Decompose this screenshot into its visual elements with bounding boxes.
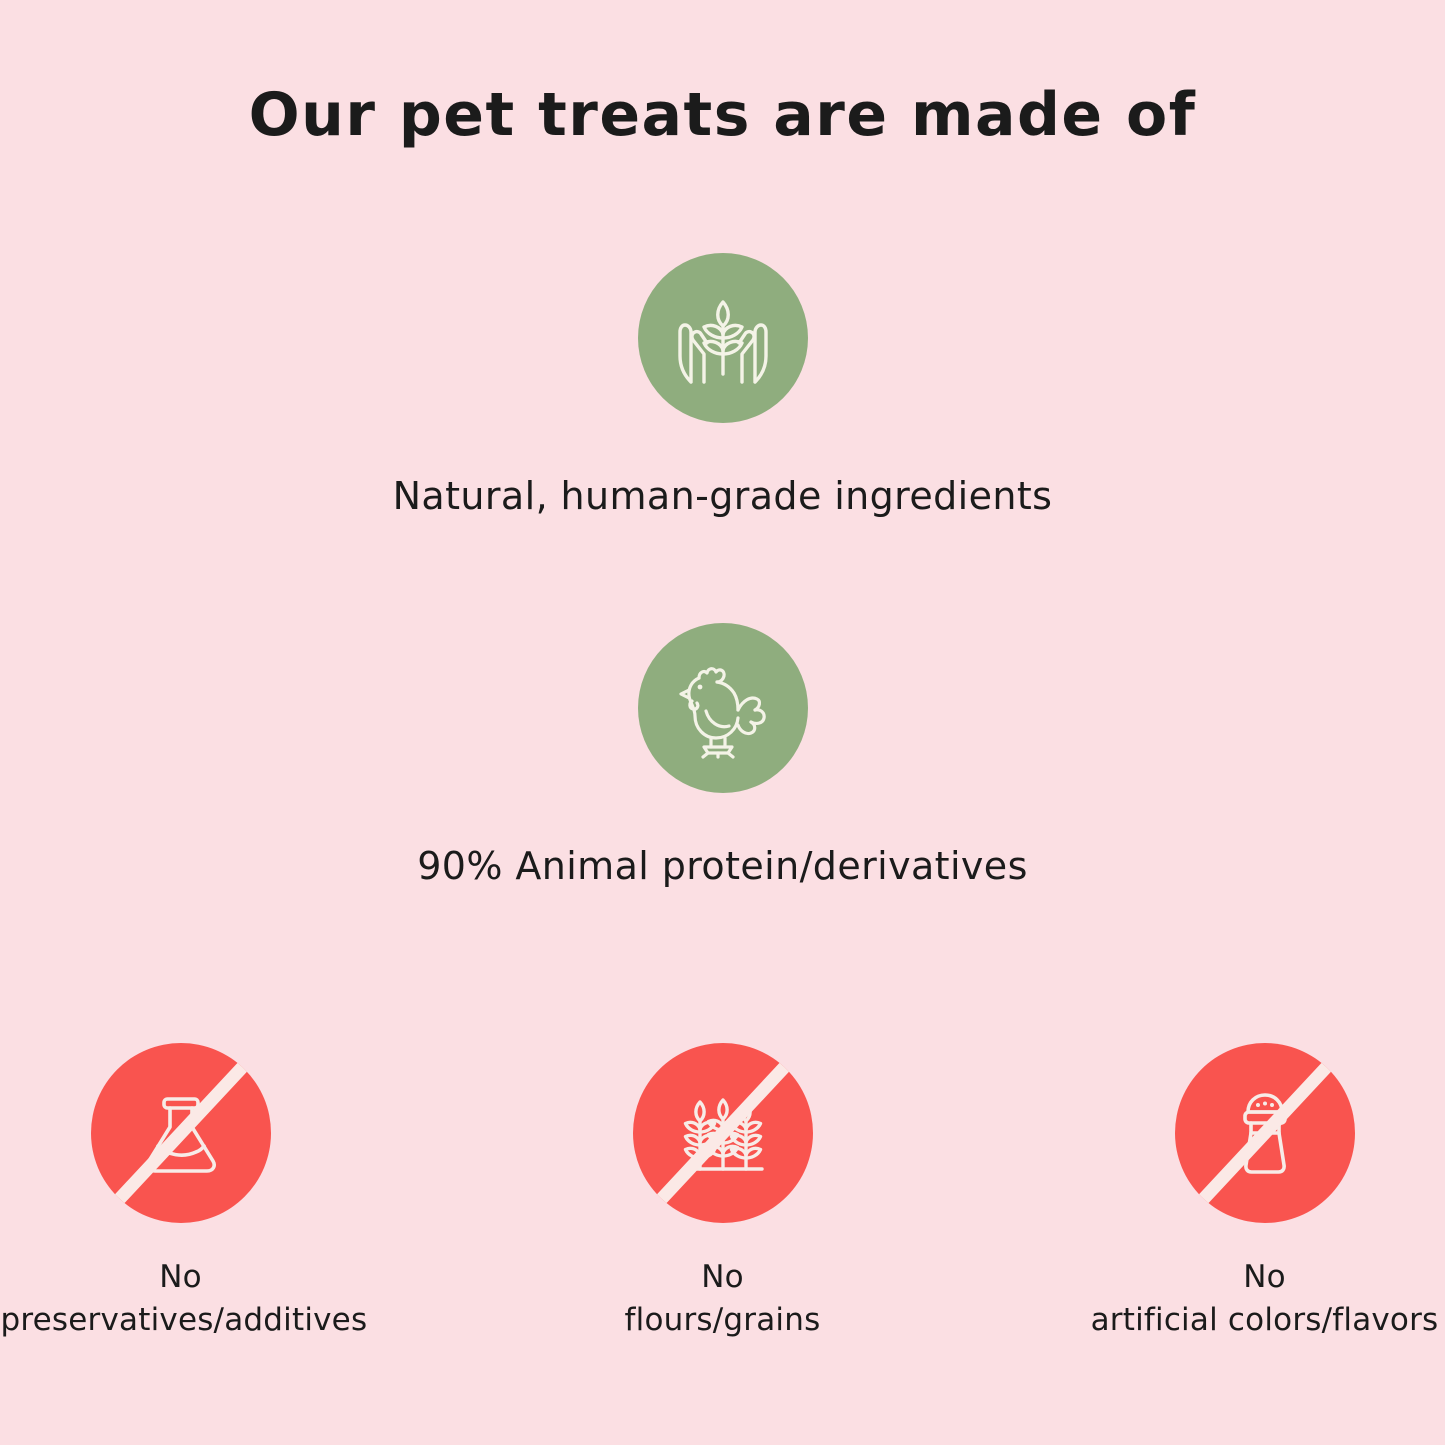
exclusion-label: No flours/grains (543, 1256, 903, 1342)
feature-block-animal-protein: 90% Animal protein/derivatives (0, 623, 1445, 891)
prohibition-slash (1175, 1043, 1355, 1223)
chicken-icon (671, 656, 775, 760)
feature-block-natural-ingredients: Natural, human-grade ingredients (0, 253, 1445, 521)
exclusion-badge-circle (633, 1043, 813, 1223)
prohibition-slash (91, 1043, 271, 1223)
exclusion-item-artificial-colors: No artificial colors/flavors (1085, 1043, 1445, 1342)
feature-badge-circle (638, 623, 808, 793)
exclusions-row: No preservatives/additives (0, 1043, 1445, 1342)
feature-label: 90% Animal protein/derivatives (0, 843, 1445, 891)
infographic-page: Our pet treats are made of (0, 0, 1445, 1445)
exclusion-item-grains: No flours/grains (543, 1043, 903, 1342)
feature-badge-circle (638, 253, 808, 423)
exclusion-label: No artificial colors/flavors (1085, 1256, 1445, 1342)
page-title: Our pet treats are made of (0, 82, 1445, 148)
prohibition-slash (633, 1043, 813, 1223)
exclusion-label: No preservatives/additives (1, 1256, 361, 1342)
exclusion-badge-circle (91, 1043, 271, 1223)
feature-label: Natural, human-grade ingredients (0, 473, 1445, 521)
exclusion-item-preservatives: No preservatives/additives (1, 1043, 361, 1342)
exclusion-badge-circle (1175, 1043, 1355, 1223)
hands-holding-wheat-icon (671, 286, 775, 390)
